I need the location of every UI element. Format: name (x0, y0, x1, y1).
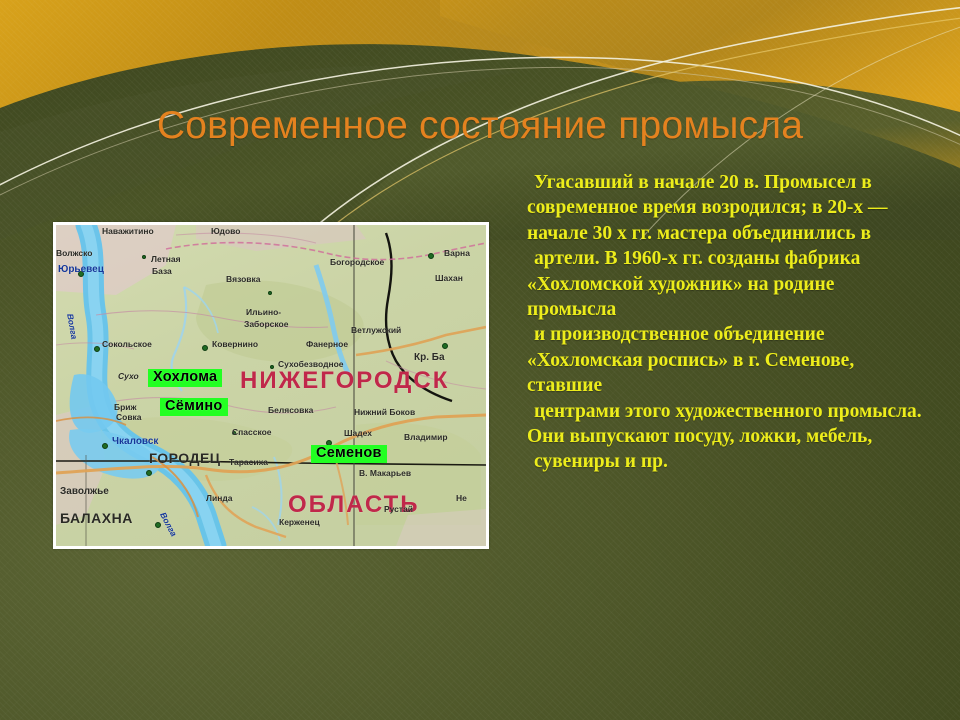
map-town: База (152, 267, 172, 276)
map-highlight-semenov: Семенов (311, 445, 387, 463)
map-town: Линда (206, 494, 232, 503)
body-paragraph: Угасавший в начале 20 в. Промысел в совр… (527, 170, 927, 246)
map-town: Керженец (279, 518, 320, 527)
map-town: Совка (116, 413, 142, 422)
map-town: Сокольское (102, 340, 152, 349)
map-city-gorodets: ГОРОДЕЦ (149, 451, 221, 465)
map-town: Наважитино (102, 227, 154, 236)
map-dot (146, 470, 152, 476)
map-city-balahna: БАЛАХНА (60, 511, 133, 525)
map-town: Бриж (114, 403, 137, 412)
presentation-slide: Современное состояние промысла (0, 0, 960, 720)
map-town: Волжско (56, 249, 93, 258)
body-paragraph: центрами этого художественного промысла.… (527, 399, 927, 450)
map-town: Спасское (232, 428, 272, 437)
map-town: Ильино- (246, 308, 281, 317)
map-dot (442, 343, 448, 349)
map-town: Варна (444, 249, 470, 258)
map-town: Шахан (435, 274, 463, 283)
body-paragraph: артели. В 1960-х гг. созданы фабрика «Хо… (527, 246, 927, 322)
map-town: Белясовка (268, 406, 313, 415)
map-town: Ветлужский (351, 326, 401, 335)
map-image-frame: НИЖЕГОРОДСК ОБЛАСТЬ Хохлома Сёмино Семен… (53, 222, 489, 549)
map-town: В. Макарьев (359, 469, 411, 478)
map-town: Юдово (211, 227, 240, 236)
map-town-chkalovsk: Чкаловск (112, 437, 158, 447)
map-dot (202, 345, 208, 351)
map-town-yuryevets: Юрьевец (58, 265, 104, 275)
map-town: Кр. Ба (414, 353, 445, 363)
map-dot (268, 291, 272, 295)
map-town-zavolzhye: Заволжье (60, 487, 109, 497)
map-region-label: НИЖЕГОРОДСК (240, 369, 449, 393)
map-canvas: НИЖЕГОРОДСК ОБЛАСТЬ Хохлома Сёмино Семен… (56, 225, 486, 546)
map-dot (428, 253, 434, 259)
map-town: Не (456, 494, 467, 503)
map-town: Ковернино (212, 340, 258, 349)
body-paragraph: сувениры и пр. (527, 449, 927, 474)
map-town: Сухобезводное (278, 360, 344, 369)
map-town: Вязовка (226, 275, 261, 284)
slide-body-text: Угасавший в начале 20 в. Промысел в совр… (527, 170, 927, 475)
map-town: Фанерное (306, 340, 348, 349)
map-highlight-hohloma: Хохлома (148, 369, 222, 387)
map-dot (94, 346, 100, 352)
map-town: Сухо (118, 372, 139, 381)
map-town: Владимир (404, 433, 448, 442)
slide-title: Современное состояние промысла (0, 106, 960, 147)
map-town: Заборское (244, 320, 288, 329)
map-dot (102, 443, 108, 449)
map-town: Нижний Боков (354, 408, 415, 417)
map-town: Тарасиха (229, 458, 268, 467)
map-town: Рустай (384, 505, 413, 514)
map-dot (142, 255, 146, 259)
map-highlight-semino: Сёмино (160, 398, 228, 416)
map-town: Шадех (344, 429, 372, 438)
map-town: Богородское (330, 258, 384, 267)
map-dot (155, 522, 161, 528)
body-paragraph: и производственное объединение «Хохломск… (527, 322, 927, 398)
map-town: Летная (151, 255, 181, 264)
